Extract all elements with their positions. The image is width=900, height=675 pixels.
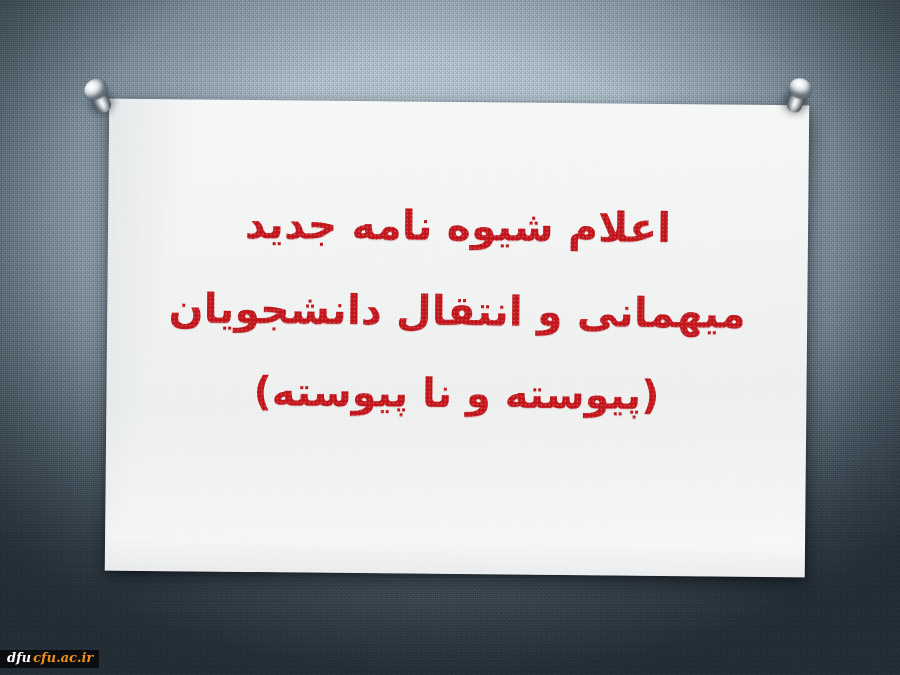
- announcement-text-block: اعلام شیوه نامه جدید میهمانی و انتقال دا…: [106, 203, 808, 418]
- site-watermark: dfu cfu.ac.ir: [0, 650, 99, 668]
- announcement-line-1: اعلام شیوه نامه جدید: [108, 203, 808, 251]
- announcement-line-2: میهمانی و انتقال دانشجویان: [107, 288, 807, 336]
- announcement-line-3: (پیوسته و نا پیوسته): [106, 371, 806, 418]
- watermark-prefix: dfu: [7, 652, 31, 665]
- paper-sheet: اعلام شیوه نامه جدید میهمانی و انتقال دا…: [105, 99, 809, 578]
- poster-scene: اعلام شیوه نامه جدید میهمانی و انتقال دا…: [0, 0, 900, 675]
- announcement-paper: اعلام شیوه نامه جدید میهمانی و انتقال دا…: [105, 99, 809, 578]
- watermark-domain: cfu.ac.ir: [33, 652, 93, 665]
